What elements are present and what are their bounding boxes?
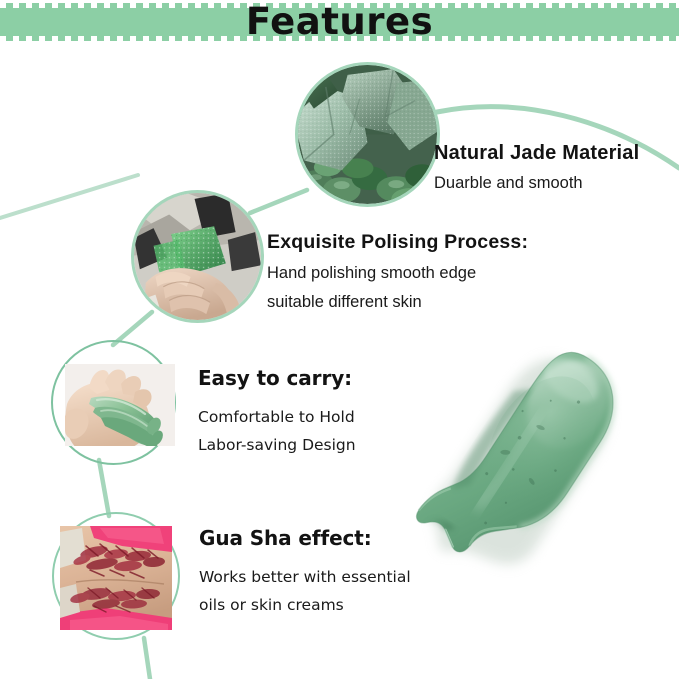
jade-gua-sha-tool — [372, 322, 672, 590]
product-image-jade-gua-sha-tool — [372, 322, 672, 590]
feature-title-jade: Natural Jade Material — [434, 142, 639, 165]
photo-clip — [65, 364, 175, 446]
feature-text-jade: Natural Jade Material Duarble and smooth — [434, 142, 639, 193]
feature-line-effect-1: oils or skin creams — [199, 596, 411, 614]
feature-title-polish: Exquisite Polising Process: — [267, 231, 528, 254]
hand-holding-tools-photo — [65, 364, 175, 446]
connector-effect-to-bottom — [144, 638, 150, 679]
hand-polishing-photo — [134, 193, 261, 320]
feature-line-carry-1: Labor-saving Design — [198, 436, 356, 454]
feature-line-polish-1: suitable different skin — [267, 293, 528, 312]
feature-photo-hand-polishing-photo — [131, 190, 264, 323]
connector-left-stub — [0, 175, 138, 218]
feature-line-effect-0: Works better with essential — [199, 568, 411, 586]
features-infographic: Features — [0, 0, 679, 679]
feature-photo-hand-holding-tools-photo — [51, 340, 176, 465]
feature-text-carry: Easy to carry: Comfortable to Hold Labor… — [198, 366, 356, 454]
feature-title-carry: Easy to carry: — [198, 366, 356, 390]
feature-photo-gua-sha-marks-photo — [52, 512, 180, 640]
photo-clip — [134, 193, 261, 320]
feature-photo-raw-jade-stones-photo — [295, 62, 440, 207]
photo-clip — [60, 526, 172, 630]
feature-line-jade-0: Duarble and smooth — [434, 174, 639, 193]
gua-sha-marks-photo — [60, 526, 172, 630]
feature-text-effect: Gua Sha effect: Works better with essent… — [199, 526, 411, 614]
feature-line-carry-0: Comfortable to Hold — [198, 408, 356, 426]
connector-jade-to-polish — [250, 190, 307, 213]
feature-title-effect: Gua Sha effect: — [199, 526, 411, 550]
raw-jade-stones-photo — [298, 65, 437, 204]
feature-text-polish: Exquisite Polising Process: Hand polishi… — [267, 231, 528, 312]
connector-carry-to-effect — [99, 460, 109, 516]
page-title: Features — [0, 0, 679, 44]
photo-clip — [298, 65, 437, 204]
feature-line-polish-0: Hand polishing smooth edge — [267, 264, 528, 283]
